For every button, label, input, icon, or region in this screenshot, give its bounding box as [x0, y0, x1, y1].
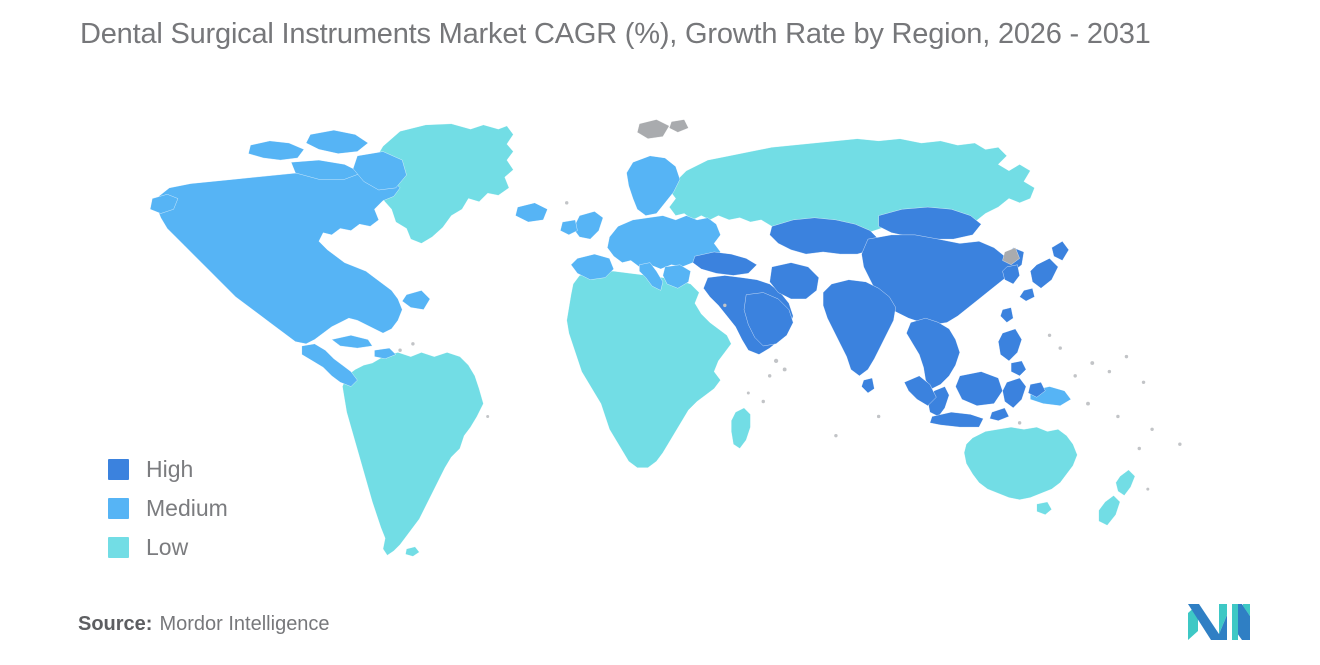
island-dot-17 [1150, 428, 1153, 431]
island-dot-1 [774, 359, 778, 363]
region-central-america[interactable] [302, 344, 358, 387]
region-new-zealand-south[interactable] [1099, 496, 1120, 526]
legend-swatch-high [108, 459, 129, 480]
region-svalbard [637, 120, 669, 139]
island-dot-16 [1116, 415, 1119, 418]
island-dot-9 [1108, 370, 1111, 373]
island-dot-25 [486, 415, 489, 418]
region-svalbard-east [669, 120, 688, 133]
region-sri-lanka[interactable] [862, 378, 875, 393]
region-iceland[interactable] [515, 203, 547, 222]
island-dot-2 [783, 368, 787, 372]
region-canadian-arctic-1[interactable] [248, 141, 304, 160]
region-canadian-arctic-2[interactable] [306, 130, 368, 154]
region-india[interactable] [823, 280, 896, 376]
island-dot-15 [1086, 402, 1090, 406]
region-africa[interactable] [567, 271, 732, 468]
region-british-isles[interactable] [573, 211, 603, 239]
page-title: Dental Surgical Instruments Market CAGR … [80, 18, 1151, 51]
region-japan-kyushu[interactable] [1020, 288, 1035, 301]
market-map-chart: Dental Surgical Instruments Market CAGR … [0, 0, 1320, 665]
legend-item-medium[interactable]: Medium [108, 489, 228, 528]
region-sulawesi[interactable] [1003, 378, 1026, 408]
island-dot-14 [1048, 334, 1051, 337]
logo-shape-i-left [1232, 604, 1238, 640]
island-dot-13 [1059, 346, 1062, 349]
island-dot-6 [398, 349, 401, 352]
legend-swatch-medium [108, 498, 129, 519]
island-dot-21 [877, 415, 880, 418]
source-value: Mordor Intelligence [159, 613, 329, 635]
island-dot-7 [411, 342, 414, 345]
region-turkey[interactable] [693, 252, 757, 275]
source-label: Source: [78, 613, 152, 635]
island-dot-11 [1073, 374, 1076, 377]
region-tasmania[interactable] [1037, 502, 1052, 515]
region-ireland[interactable] [560, 220, 577, 235]
legend-swatch-low [108, 537, 129, 558]
region-japan-honshu[interactable] [1030, 258, 1058, 288]
island-dot-4 [723, 304, 726, 307]
island-dot-3 [768, 374, 771, 377]
legend-item-high[interactable]: High [108, 450, 228, 489]
region-falklands[interactable] [405, 547, 419, 557]
legend-label-medium: Medium [146, 495, 228, 522]
region-south-america[interactable] [342, 352, 483, 555]
region-newfoundland[interactable] [402, 290, 430, 309]
island-dot-20 [1018, 421, 1021, 424]
island-dot-24 [747, 391, 750, 394]
region-caribbean-cuba[interactable] [332, 335, 373, 348]
region-taiwan[interactable] [1000, 308, 1013, 323]
region-north-america[interactable] [157, 171, 403, 344]
world-choropleth-map [130, 96, 1200, 566]
island-dot-18 [1178, 443, 1181, 446]
island-dot-26 [1146, 488, 1149, 491]
island-dot-12 [1142, 381, 1145, 384]
region-madagascar[interactable] [731, 408, 750, 449]
region-japan[interactable] [1052, 241, 1069, 260]
island-dot-22 [834, 434, 837, 437]
region-philippines-south[interactable] [1011, 361, 1026, 376]
legend-item-low[interactable]: Low [108, 528, 228, 567]
source-attribution: Source:Mordor Intelligence [78, 613, 330, 636]
map-legend: High Medium Low [108, 450, 228, 567]
region-borneo[interactable] [956, 372, 1003, 406]
region-australia[interactable] [964, 427, 1077, 500]
mordor-intelligence-logo [1186, 600, 1252, 642]
region-philippines[interactable] [998, 329, 1022, 361]
region-new-zealand[interactable] [1116, 470, 1135, 496]
island-dot-5 [565, 201, 568, 204]
island-dot-19 [1138, 447, 1141, 450]
world-map-svg [130, 96, 1200, 566]
region-timor[interactable] [990, 408, 1009, 421]
legend-label-low: Low [146, 534, 188, 561]
island-dot-10 [1125, 355, 1128, 358]
legend-label-high: High [146, 456, 193, 483]
island-dot-8 [1090, 361, 1094, 365]
logo-svg [1186, 600, 1252, 642]
island-dot-23 [762, 400, 765, 403]
